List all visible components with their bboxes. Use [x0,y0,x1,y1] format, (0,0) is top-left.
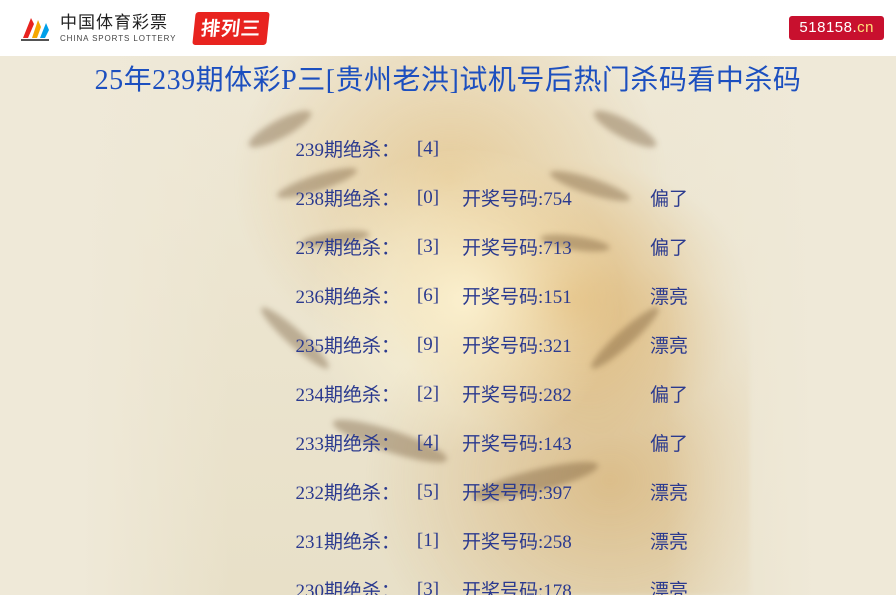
period-label: 231期绝杀： [0,527,400,554]
sports-lottery-logo-icon [18,11,52,45]
draw-number: 开奖号码:178 [456,576,642,595]
game-badge-pailie3: 排列三 [193,12,270,45]
list-item: 232期绝杀： [5] 开奖号码:397 漂亮 [0,467,896,516]
draw-number: 开奖号码:258 [456,527,642,554]
period-label: 230期绝杀： [0,576,400,595]
result-note: 漂亮 [642,282,730,309]
list-item: 233期绝杀： [4] 开奖号码:143 偏了 [0,418,896,467]
list-item: 239期绝杀： [4] [0,124,896,173]
prediction-list: 239期绝杀： [4] 238期绝杀： [0] 开奖号码:754 偏了 237期… [0,124,896,595]
page-root: 中国体育彩票 CHINA SPORTS LOTTERY 排列三 518158.c… [0,0,896,595]
kill-number: [3] [400,236,456,258]
site-domain-badge: 518158.cn [789,16,884,40]
list-item: 230期绝杀： [3] 开奖号码:178 漂亮 [0,565,896,595]
site-header: 中国体育彩票 CHINA SPORTS LOTTERY 排列三 518158.c… [0,0,896,56]
period-label: 235期绝杀： [0,331,400,358]
kill-number: [4] [400,432,456,454]
kill-number: [0] [400,187,456,209]
list-item: 237期绝杀： [3] 开奖号码:713 偏了 [0,222,896,271]
draw-number: 开奖号码:143 [456,429,642,456]
draw-number: 开奖号码:754 [456,184,642,211]
list-item: 234期绝杀： [2] 开奖号码:282 偏了 [0,369,896,418]
period-label: 234期绝杀： [0,380,400,407]
brand-text-block: 中国体育彩票 CHINA SPORTS LOTTERY [60,14,176,43]
kill-number: [3] [400,579,456,595]
kill-number: [9] [400,334,456,356]
kill-number: [4] [400,138,456,160]
result-note: 偏了 [642,233,730,260]
site-domain-name: 518158. [799,19,857,36]
period-label: 237期绝杀： [0,233,400,260]
draw-number: 开奖号码:713 [456,233,642,260]
list-item: 235期绝杀： [9] 开奖号码:321 漂亮 [0,320,896,369]
result-note: 漂亮 [642,478,730,505]
result-note: 偏了 [642,184,730,211]
site-domain-tld: cn [857,19,874,36]
period-label: 232期绝杀： [0,478,400,505]
kill-number: [2] [400,383,456,405]
result-note: 偏了 [642,429,730,456]
result-note: 偏了 [642,380,730,407]
list-item: 238期绝杀： [0] 开奖号码:754 偏了 [0,173,896,222]
period-label: 238期绝杀： [0,184,400,211]
brand-name-en: CHINA SPORTS LOTTERY [60,35,176,43]
brand-name-cn: 中国体育彩票 [60,14,176,31]
list-item: 231期绝杀： [1] 开奖号码:258 漂亮 [0,516,896,565]
draw-number: 开奖号码:282 [456,380,642,407]
brand-block[interactable]: 中国体育彩票 CHINA SPORTS LOTTERY 排列三 [18,11,268,45]
result-note: 漂亮 [642,576,730,595]
page-title: 25年239期体彩P三[贵州老洪]试机号后热门杀码看中杀码 [0,58,896,98]
result-note: 漂亮 [642,331,730,358]
result-note: 漂亮 [642,527,730,554]
kill-number: [1] [400,530,456,552]
list-item: 236期绝杀： [6] 开奖号码:151 漂亮 [0,271,896,320]
period-label: 236期绝杀： [0,282,400,309]
draw-number: 开奖号码:151 [456,282,642,309]
draw-number: 开奖号码:397 [456,478,642,505]
period-label: 233期绝杀： [0,429,400,456]
kill-number: [5] [400,481,456,503]
period-label: 239期绝杀： [0,135,400,162]
kill-number: [6] [400,285,456,307]
draw-number: 开奖号码:321 [456,331,642,358]
